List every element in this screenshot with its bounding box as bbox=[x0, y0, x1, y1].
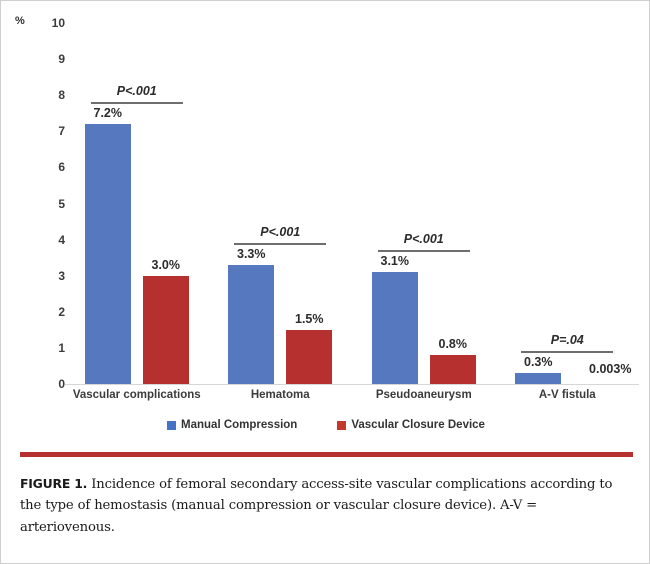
bar-manual-compression bbox=[228, 265, 274, 384]
y-axis-tick-label: 9 bbox=[37, 52, 65, 66]
p-value-bracket: P=.04 bbox=[521, 331, 613, 353]
bar-value-label: 0.003% bbox=[567, 362, 650, 376]
bar-chart: % 109876543210 7.2%3.0%Vascular complica… bbox=[1, 1, 650, 413]
bar-value-label: 0.8% bbox=[416, 337, 490, 351]
y-axis: 109876543210 bbox=[13, 1, 65, 413]
x-axis-category-label: Vascular complications bbox=[65, 389, 209, 401]
bar-value-label: 3.0% bbox=[129, 258, 203, 272]
legend-swatch-icon bbox=[337, 421, 346, 430]
bar-vascular-closure-device bbox=[143, 276, 189, 384]
x-axis-category-label: A-V fistula bbox=[496, 389, 640, 401]
bar-manual-compression bbox=[515, 373, 561, 384]
p-value-label: P=.04 bbox=[521, 333, 613, 347]
x-axis-category-label: Pseudoaneurysm bbox=[352, 389, 496, 401]
legend-label: Vascular Closure Device bbox=[351, 419, 485, 431]
y-axis-tick-label: 3 bbox=[37, 269, 65, 283]
bar-vascular-closure-device bbox=[430, 355, 476, 384]
legend-item-manual-compression: Manual Compression bbox=[167, 419, 297, 431]
y-axis-tick-label: 2 bbox=[37, 305, 65, 319]
bar-manual-compression bbox=[372, 272, 418, 384]
x-axis-category-label: Hematoma bbox=[209, 389, 353, 401]
y-axis-tick-label: 1 bbox=[37, 341, 65, 355]
y-axis-tick-label: 6 bbox=[37, 160, 65, 174]
p-value-bracket: P<.001 bbox=[91, 82, 183, 104]
p-value-label: P<.001 bbox=[91, 84, 183, 98]
bar-value-label: 7.2% bbox=[71, 106, 145, 120]
y-axis-tick-label: 4 bbox=[37, 233, 65, 247]
figure-panel: % 109876543210 7.2%3.0%Vascular complica… bbox=[0, 0, 650, 564]
p-value-bracket: P<.001 bbox=[234, 223, 326, 245]
chart-legend: Manual Compression Vascular Closure Devi… bbox=[1, 419, 650, 431]
p-value-line bbox=[234, 243, 326, 245]
p-value-label: P<.001 bbox=[234, 225, 326, 239]
caption-divider bbox=[20, 452, 633, 457]
legend-item-vascular-closure-device: Vascular Closure Device bbox=[337, 419, 485, 431]
figure-caption-text: Incidence of femoral secondary access-si… bbox=[20, 477, 612, 535]
bar-value-label: 3.3% bbox=[214, 247, 288, 261]
bar-value-label: 1.5% bbox=[272, 312, 346, 326]
bar-value-label: 3.1% bbox=[358, 254, 432, 268]
bar-manual-compression bbox=[85, 124, 131, 384]
figure-caption: FIGURE 1. Incidence of femoral secondary… bbox=[20, 474, 635, 538]
bar-vascular-closure-device bbox=[286, 330, 332, 384]
y-axis-tick-label: 10 bbox=[37, 16, 65, 30]
bar-value-label: 0.3% bbox=[501, 355, 575, 369]
p-value-line bbox=[91, 102, 183, 104]
legend-label: Manual Compression bbox=[181, 419, 297, 431]
legend-swatch-icon bbox=[167, 421, 176, 430]
y-axis-tick-label: 7 bbox=[37, 124, 65, 138]
p-value-bracket: P<.001 bbox=[378, 230, 470, 252]
p-value-line bbox=[378, 250, 470, 252]
p-value-line bbox=[521, 351, 613, 353]
y-axis-tick-label: 8 bbox=[37, 88, 65, 102]
y-axis-tick-label: 0 bbox=[37, 377, 65, 391]
figure-number-label: FIGURE 1. bbox=[20, 476, 87, 491]
p-value-label: P<.001 bbox=[378, 232, 470, 246]
y-axis-tick-label: 5 bbox=[37, 197, 65, 211]
